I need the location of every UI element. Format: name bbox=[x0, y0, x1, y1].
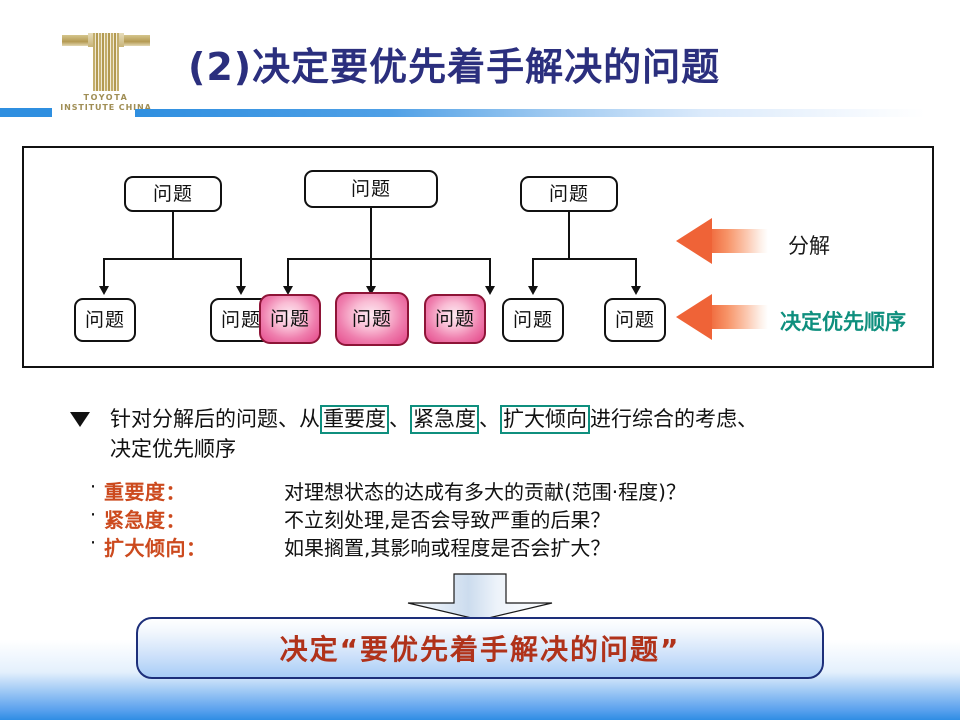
criteria-label-expansion: 扩大倾向： bbox=[104, 532, 284, 561]
node-middle-child-3: 问题 bbox=[424, 294, 486, 344]
criteria-desc-importance: 对理想状态的达成有多大的贡献(范围·程度)？ bbox=[284, 476, 686, 505]
connector-left-stem bbox=[172, 212, 174, 260]
criteria-label-importance: 重要度： bbox=[104, 476, 284, 505]
node-middle-parent: 问题 bbox=[304, 170, 438, 208]
connector-middle-drop-1 bbox=[287, 258, 289, 288]
connector-middle-drop-3 bbox=[489, 258, 491, 288]
page-title: (2)决定要优先着手解决的问题 bbox=[188, 36, 918, 91]
connector-left-drop-1 bbox=[103, 258, 105, 288]
connector-middle-drop-2 bbox=[370, 258, 372, 288]
toyota-t-logo-icon bbox=[58, 33, 154, 91]
list-bullet-icon: · bbox=[90, 532, 104, 554]
node-right-parent: 问题 bbox=[520, 176, 618, 212]
decompose-arrow-head bbox=[676, 218, 712, 264]
paragraph-prefix: 针对分解后的问题、从 bbox=[110, 407, 320, 431]
down-arrow-icon bbox=[406, 573, 554, 621]
logo-stem bbox=[93, 33, 119, 91]
connector-middle-stem bbox=[370, 208, 372, 260]
connector-middle-bar bbox=[287, 258, 491, 260]
logo-text-toyota: TOYOTA bbox=[47, 93, 165, 103]
list-bullet-icon: · bbox=[90, 476, 104, 498]
prioritize-arrow-head bbox=[676, 294, 712, 340]
node-middle-child-2: 问题 bbox=[335, 292, 409, 346]
node-left-parent: 问题 bbox=[124, 176, 222, 212]
node-left-child-1: 问题 bbox=[74, 298, 136, 342]
node-right-child-2: 问题 bbox=[604, 298, 666, 342]
keyword-expansion-tendency: 扩大倾向 bbox=[500, 405, 590, 434]
criteria-list: ·重要度：对理想状态的达成有多大的贡献(范围·程度)？ ·紧急度：不立刻处理,是… bbox=[90, 476, 910, 560]
paragraph-line-2: 决定优先顺序 bbox=[110, 434, 940, 464]
problem-decomposition-diagram: 问题 问题 问题 问题 问题 问题 问题 问题 问题 问题 分解 决定优先顺序 bbox=[22, 146, 934, 368]
node-right-child-1: 问题 bbox=[502, 298, 564, 342]
slide-header: TOYOTA INSTITUTE CHINA (2)决定要优先着手解决的问题 bbox=[0, 0, 960, 125]
arrowhead-left-1 bbox=[99, 286, 109, 295]
conclusion-box: 决定“要优先着手解决的问题” bbox=[136, 617, 824, 679]
connector-left-drop-2 bbox=[240, 258, 242, 288]
list-item: ·重要度：对理想状态的达成有多大的贡献(范围·程度)？ bbox=[90, 476, 910, 504]
header-rule-main bbox=[135, 109, 925, 117]
paragraph-sep-1: 、 bbox=[389, 407, 410, 431]
criteria-desc-urgency: 不立刻处理,是否会导致严重的后果？ bbox=[284, 504, 610, 533]
connector-left-bar bbox=[103, 258, 241, 260]
criteria-desc-expansion: 如果搁置,其影响或程度是否会扩大？ bbox=[284, 532, 610, 561]
conclusion-text: 决定“要优先着手解决的问题” bbox=[280, 628, 681, 668]
annotation-label-prioritize: 决定优先顺序 bbox=[780, 306, 906, 336]
connector-right-drop-2 bbox=[635, 258, 637, 288]
toyota-institute-china-logo: TOYOTA INSTITUTE CHINA bbox=[47, 33, 165, 115]
paragraph-sep-2: 、 bbox=[479, 407, 500, 431]
connector-right-bar bbox=[532, 258, 636, 260]
annotation-label-decompose: 分解 bbox=[788, 230, 830, 260]
arrowhead-left-2 bbox=[236, 286, 246, 295]
explanation-paragraph: 针对分解后的问题、从重要度、紧急度、扩大倾向进行综合的考虑、 决定优先顺序 bbox=[110, 404, 940, 464]
node-middle-child-1: 问题 bbox=[259, 294, 321, 344]
connector-right-stem bbox=[568, 212, 570, 260]
keyword-importance: 重要度 bbox=[320, 405, 389, 434]
prioritize-arrow-icon bbox=[676, 294, 768, 340]
keyword-urgency: 紧急度 bbox=[410, 405, 479, 434]
prioritize-arrow-shaft bbox=[710, 305, 768, 329]
triangle-bullet-icon bbox=[70, 412, 90, 427]
decompose-arrow-icon bbox=[676, 218, 768, 264]
arrowhead-middle-3 bbox=[485, 286, 495, 295]
decompose-arrow-shaft bbox=[710, 229, 768, 253]
list-item: ·扩大倾向：如果搁置,其影响或程度是否会扩大？ bbox=[90, 532, 910, 560]
arrowhead-right-2 bbox=[631, 286, 641, 295]
arrowhead-right-1 bbox=[528, 286, 538, 295]
paragraph-suffix: 进行综合的考虑、 bbox=[590, 407, 758, 431]
header-rule-left bbox=[0, 108, 52, 117]
list-item: ·紧急度：不立刻处理,是否会导致严重的后果？ bbox=[90, 504, 910, 532]
connector-right-drop-1 bbox=[532, 258, 534, 288]
criteria-label-urgency: 紧急度： bbox=[104, 504, 284, 533]
list-bullet-icon: · bbox=[90, 504, 104, 526]
